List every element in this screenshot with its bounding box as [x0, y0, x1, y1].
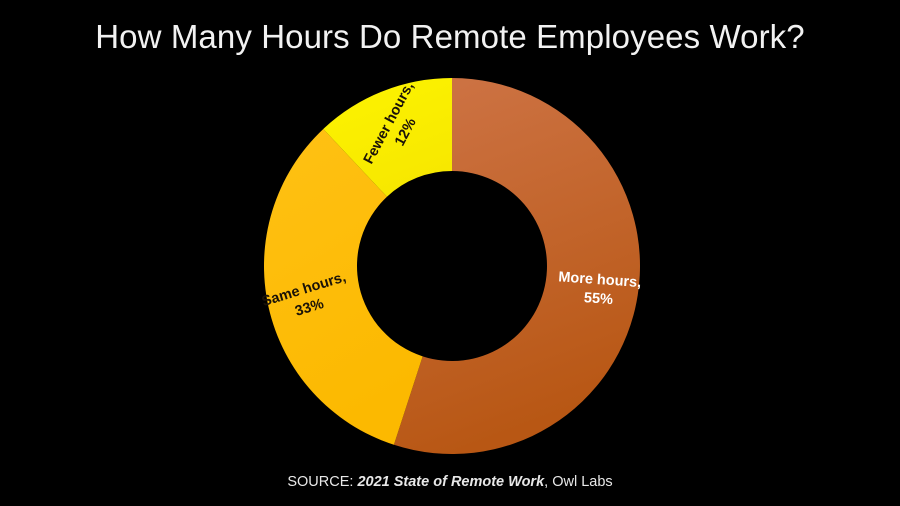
source-citation: SOURCE: 2021 State of Remote Work, Owl L…: [0, 474, 900, 490]
slice-label-value: 55%: [583, 290, 613, 308]
source-organization: , Owl Labs: [544, 474, 613, 490]
slide-canvas: How Many Hours Do Remote Employees Work?…: [0, 0, 900, 506]
source-prefix: SOURCE:: [287, 474, 357, 490]
source-title: 2021 State of Remote Work: [357, 474, 544, 490]
donut-chart-svg: More hours,55%Same hours,33%Fewer hours,…: [0, 0, 900, 470]
donut-chart: More hours,55%Same hours,33%Fewer hours,…: [0, 0, 900, 470]
donut-slices: [264, 78, 640, 454]
